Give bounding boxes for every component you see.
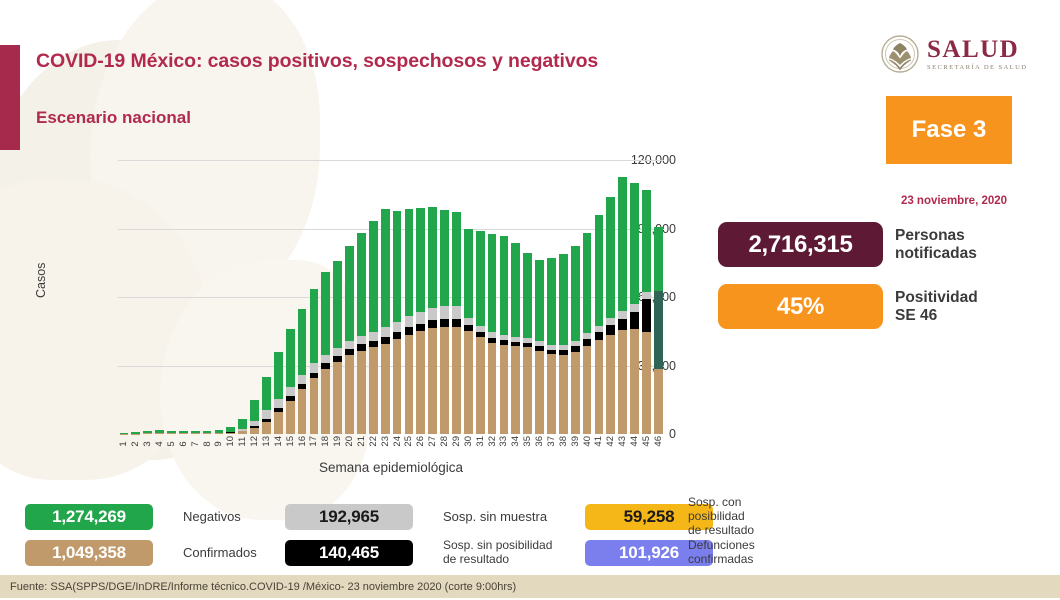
x-axis-tick: 29: [451, 436, 463, 447]
bar-segment: [464, 331, 473, 434]
bar-column: [605, 160, 617, 434]
bar-segment: [440, 210, 449, 306]
stacked-bar[interactable]: [618, 177, 627, 434]
stat-positividad-label-line2: SE 46: [895, 307, 978, 325]
bar-column: [439, 160, 451, 434]
x-axis-tick-label: 31: [475, 436, 486, 447]
x-axis-tick-label: 1: [118, 436, 129, 447]
bar-segment: [345, 355, 354, 434]
stacked-bar[interactable]: [310, 289, 319, 434]
bar-segment: [369, 347, 378, 434]
legend-label-line2: confirmadas: [688, 553, 800, 567]
bar-column: [557, 160, 569, 434]
bar-segment: [559, 355, 568, 434]
bar-column: [581, 160, 593, 434]
title-accent-bar: [0, 45, 20, 150]
bar-segment: [606, 325, 615, 335]
bar-segment: [583, 346, 592, 434]
x-axis-tick-label: 45: [641, 436, 652, 447]
bar-column: [177, 160, 189, 434]
stat-positividad-chip: 45%: [718, 284, 883, 329]
bar-segment: [286, 329, 295, 386]
bar-segment: [191, 433, 200, 434]
bar-column: [272, 160, 284, 434]
bar-column: [332, 160, 344, 434]
bar-segment: [393, 211, 402, 322]
stacked-bar[interactable]: [606, 197, 615, 434]
x-axis-tick-label: 28: [439, 436, 450, 447]
x-axis-tick: 19: [332, 436, 344, 447]
bar-column: [166, 160, 178, 434]
x-axis-tick: 25: [403, 436, 415, 447]
bar-column: [237, 160, 249, 434]
x-axis-tick-label: 9: [213, 436, 224, 447]
bar-column: [498, 160, 510, 434]
x-axis-tick-label: 25: [403, 436, 414, 447]
bar-segment: [642, 190, 651, 293]
bar-segment: [298, 389, 307, 434]
bar-segment: [274, 352, 283, 399]
x-axis-tick-label: 12: [249, 436, 260, 447]
x-axis-tick-label: 6: [178, 436, 189, 447]
bar-segment: [595, 340, 604, 434]
stacked-bar[interactable]: [452, 212, 461, 434]
bar-segment: [606, 318, 615, 325]
stacked-bar[interactable]: [357, 233, 366, 434]
stacked-bar[interactable]: [345, 246, 354, 434]
stacked-bar[interactable]: [321, 272, 330, 434]
x-axis-tick-label: 30: [463, 436, 474, 447]
x-axis-tick: 34: [510, 436, 522, 447]
x-axis-tick: 30: [462, 436, 474, 447]
bar-segment: [369, 341, 378, 348]
bar-segment: [606, 335, 615, 434]
bar-segment: [440, 319, 449, 327]
x-axis-tick: 39: [569, 436, 581, 447]
x-axis-tick: 38: [557, 436, 569, 447]
x-axis-tick-label: 23: [380, 436, 391, 447]
bar-segment: [357, 351, 366, 434]
bar-segment: [238, 431, 247, 434]
bar-column: [367, 160, 379, 434]
bar-column: [379, 160, 391, 434]
stacked-bar[interactable]: [630, 183, 639, 434]
x-axis-tick: 4: [154, 436, 166, 447]
x-axis-tick-label: 27: [427, 436, 438, 447]
x-axis-tick: 37: [546, 436, 558, 447]
x-axis-tick: 8: [201, 436, 213, 447]
bar-segment: [642, 299, 651, 332]
legend-label: Negativos: [175, 510, 285, 525]
stacked-bar[interactable]: [155, 430, 164, 434]
bar-segment: [488, 343, 497, 434]
bar-segment: [416, 208, 425, 312]
bar-segment: [452, 212, 461, 307]
bar-segment: [310, 363, 319, 372]
bar-segment: [333, 348, 342, 356]
x-axis-label: Semana epidemiológica: [118, 460, 664, 475]
x-axis-tick-label: 5: [166, 436, 177, 447]
legend-label: Sosp. con posibilidadde resultado: [680, 496, 800, 537]
stacked-bar[interactable]: [215, 430, 224, 434]
bar-column: [320, 160, 332, 434]
x-axis-tick-label: 38: [558, 436, 569, 447]
bar-segment: [333, 362, 342, 434]
page-subtitle: Escenario nacional: [36, 108, 191, 128]
stacked-bar[interactable]: [191, 431, 200, 434]
bar-segment: [416, 312, 425, 324]
bar-segment: [476, 337, 485, 434]
x-axis-tick: 22: [367, 436, 379, 447]
bar-segment: [416, 324, 425, 332]
x-axis-tick: 26: [415, 436, 427, 447]
stacked-bar[interactable]: [250, 400, 259, 434]
bar-segment: [583, 339, 592, 346]
bar-segment: [286, 387, 295, 397]
stat-personas-chip: 2,716,315: [718, 222, 883, 267]
x-axis-tick-label: 37: [546, 436, 557, 447]
stacked-bar[interactable]: [654, 227, 663, 434]
x-axis-tick: 35: [522, 436, 534, 447]
legend-label: Sosp. sin muestra: [435, 510, 585, 525]
x-axis-tick-label: 35: [522, 436, 533, 447]
stacked-bar[interactable]: [298, 309, 307, 434]
bar-segment: [428, 308, 437, 320]
bar-column: [118, 160, 130, 434]
bar-column: [344, 160, 356, 434]
bar-segment: [262, 377, 271, 410]
bar-column: [296, 160, 308, 434]
bar-segment: [298, 309, 307, 375]
x-axis-tick-label: 34: [510, 436, 521, 447]
x-axis-tick-label: 42: [605, 436, 616, 447]
legend-label-line1: Sosp. sin posibilidad: [443, 539, 585, 553]
bar-segment: [595, 215, 604, 326]
bar-column: [415, 160, 427, 434]
stacked-bar[interactable]: [226, 427, 235, 434]
stacked-bar[interactable]: [120, 433, 129, 434]
x-axis-tick: 40: [581, 436, 593, 447]
x-axis-tick-label: 4: [154, 436, 165, 447]
bar-segment: [321, 355, 330, 364]
x-axis-tick: 17: [308, 436, 320, 447]
legend-chip: 1,049,358: [25, 540, 153, 566]
bar-column: [154, 160, 166, 434]
chart-legend: 1,274,269Negativos192,965Sosp. sin muest…: [25, 502, 765, 568]
stat-personas-label-line1: Personas: [895, 227, 977, 245]
bar-segment: [488, 234, 497, 332]
x-axis-tick: 32: [486, 436, 498, 447]
x-axis-tick-label: 36: [534, 436, 545, 447]
stacked-bar[interactable]: [405, 209, 414, 434]
bar-column: [403, 160, 415, 434]
stacked-bar[interactable]: [559, 254, 568, 434]
stacked-bar[interactable]: [583, 233, 592, 434]
x-axis-tick-label: 10: [225, 436, 236, 447]
bar-segment: [405, 209, 414, 316]
stacked-bar[interactable]: [274, 352, 283, 434]
bar-column: [652, 160, 664, 434]
bar-segment: [571, 352, 580, 434]
stacked-bar[interactable]: [523, 253, 532, 434]
x-axis-tick: 11: [237, 436, 249, 447]
bar-segment: [630, 304, 639, 312]
stacked-bar[interactable]: [416, 208, 425, 434]
bar-segment: [523, 347, 532, 434]
bar-segment: [618, 177, 627, 312]
x-axis-tick-label: 29: [451, 436, 462, 447]
bar-segment: [428, 328, 437, 434]
bar-segment: [476, 231, 485, 326]
bar-segment: [393, 332, 402, 339]
footer-source: Fuente: SSA(SPPS/DGE/InDRE/Informe técni…: [0, 581, 516, 593]
bar-segment: [642, 332, 651, 434]
bar-segment: [262, 422, 271, 434]
stacked-bar[interactable]: [547, 258, 556, 434]
bar-segment: [369, 332, 378, 341]
bar-segment: [321, 272, 330, 354]
x-axis-tick: 36: [534, 436, 546, 447]
legend-label: Sosp. sin posibilidadde resultado: [435, 539, 585, 567]
stacked-bar[interactable]: [167, 431, 176, 434]
bar-segment: [618, 330, 627, 434]
x-axis-tick: 1: [118, 436, 130, 447]
x-axis-tick-label: 19: [332, 436, 343, 447]
bar-segment: [369, 221, 378, 332]
x-axis-tick-label: 17: [308, 436, 319, 447]
x-axis-tick: 24: [391, 436, 403, 447]
bar-segment: [559, 254, 568, 345]
x-axis-tick-label: 39: [570, 436, 581, 447]
legend-value: 1,274,269: [52, 507, 126, 527]
bar-segment: [500, 236, 509, 335]
stacked-bar[interactable]: [476, 231, 485, 434]
fase-badge-label: Fase 3: [912, 116, 987, 144]
bar-segment: [416, 331, 425, 434]
x-axis-tick: 41: [593, 436, 605, 447]
x-axis-tick: 33: [498, 436, 510, 447]
page-title: COVID-19 México: casos positivos, sospec…: [36, 50, 598, 73]
bar-segment: [535, 260, 544, 341]
x-axis-tick: 2: [130, 436, 142, 447]
bar-segment: [393, 339, 402, 434]
x-axis-tick: 10: [225, 436, 237, 447]
bar-column: [522, 160, 534, 434]
bar-segment: [618, 311, 627, 318]
fase-badge: Fase 3: [886, 96, 1012, 164]
stat-personas-value: 2,716,315: [748, 231, 852, 259]
legend-label-line2: de resultado: [688, 524, 800, 538]
stacked-bar[interactable]: [286, 329, 295, 434]
stacked-bar[interactable]: [428, 207, 437, 434]
bar-segment: [203, 433, 212, 434]
stacked-bar[interactable]: [464, 229, 473, 434]
bar-column: [462, 160, 474, 434]
bar-segment: [310, 289, 319, 363]
stacked-bar[interactable]: [262, 377, 271, 434]
x-axis-tick-label: 33: [498, 436, 509, 447]
bar-segment: [606, 197, 615, 318]
bar-column: [391, 160, 403, 434]
stat-personas-label: Personas notificadas: [895, 227, 977, 262]
bar-column: [249, 160, 261, 434]
x-axis-tick-label: 11: [237, 436, 248, 447]
x-axis-tick-label: 46: [653, 436, 664, 447]
bar-column: [201, 160, 213, 434]
x-axis-tick: 13: [261, 436, 273, 447]
legend-chip: 192,965: [285, 504, 413, 530]
bar-column: [189, 160, 201, 434]
bar-column: [534, 160, 546, 434]
x-axis-tick-label: 32: [487, 436, 498, 447]
x-axis-tick: 18: [320, 436, 332, 447]
bar-segment: [381, 337, 390, 344]
bar-column: [486, 160, 498, 434]
stacked-bar[interactable]: [511, 243, 520, 434]
bar-segment: [179, 433, 188, 434]
stacked-bar[interactable]: [595, 215, 604, 434]
x-axis-tick-label: 15: [285, 436, 296, 447]
stacked-bar[interactable]: [333, 261, 342, 434]
x-axis-ticks: 1234567891011121314151617181920212223242…: [118, 436, 664, 447]
bar-column: [593, 160, 605, 434]
stacked-bar[interactable]: [131, 432, 140, 434]
salud-logo: SALUD SECRETARÍA DE SALUD: [880, 34, 1027, 74]
bar-segment: [654, 369, 663, 434]
bar-segment: [274, 412, 283, 434]
bar-segment: [654, 227, 663, 292]
x-axis-tick-label: 14: [273, 436, 284, 447]
stat-positividad-value: 45%: [777, 293, 824, 321]
bar-segment: [511, 346, 520, 434]
bar-segment: [523, 253, 532, 337]
stacked-bar[interactable]: [393, 211, 402, 434]
stacked-bar[interactable]: [488, 234, 497, 434]
stat-positividad-label-line1: Positividad: [895, 289, 978, 307]
stat-positividad: 45% Positividad SE 46: [718, 284, 978, 329]
bar-segment: [143, 433, 152, 434]
bar-segment: [428, 207, 437, 307]
x-axis-tick-label: 41: [593, 436, 604, 447]
x-axis-tick: 45: [641, 436, 653, 447]
legend-value: 1,049,358: [52, 543, 126, 563]
legend-label: Defuncionesconfirmadas: [680, 539, 800, 567]
bar-segment: [630, 312, 639, 329]
bar-segment: [452, 306, 461, 318]
y-axis-label: Casos: [34, 263, 48, 298]
bar-segment: [381, 327, 390, 337]
x-axis-tick: 20: [344, 436, 356, 447]
bar-segment: [571, 246, 580, 341]
bar-segment: [321, 369, 330, 434]
bar-column: [474, 160, 486, 434]
bar-segment: [511, 243, 520, 337]
x-axis-tick-label: 3: [142, 436, 153, 447]
legend-label-line1: Sosp. con posibilidad: [688, 496, 800, 524]
bar-segment: [464, 229, 473, 318]
legend-value: 140,465: [319, 543, 379, 563]
stacked-bar[interactable]: [500, 236, 509, 434]
x-axis-tick: 5: [166, 436, 178, 447]
bar-segment-highlight: [654, 291, 663, 369]
x-axis-tick: 9: [213, 436, 225, 447]
stacked-bar[interactable]: [642, 190, 651, 434]
bar-column: [569, 160, 581, 434]
stat-personas-notificadas: 2,716,315 Personas notificadas: [718, 222, 977, 267]
stacked-bar-chart: Casos 030,00060,00090,000120,000 1234567…: [36, 160, 676, 480]
x-axis-tick: 16: [296, 436, 308, 447]
x-axis-tick: 31: [474, 436, 486, 447]
stat-positividad-label: Positividad SE 46: [895, 289, 978, 324]
bar-series: [118, 160, 664, 434]
bar-segment: [452, 319, 461, 327]
stacked-bar[interactable]: [179, 431, 188, 434]
x-axis-tick: 23: [379, 436, 391, 447]
x-axis-tick: 15: [284, 436, 296, 447]
legend-label-line2: de resultado: [443, 553, 585, 567]
bar-segment: [595, 332, 604, 340]
legend-chip: 140,465: [285, 540, 413, 566]
bar-segment: [215, 433, 224, 434]
bar-segment: [618, 319, 627, 330]
x-axis-tick-label: 26: [415, 436, 426, 447]
x-axis-tick-label: 24: [392, 436, 403, 447]
plot-area: [118, 160, 664, 434]
bar-segment: [238, 419, 247, 428]
x-axis-tick: 3: [142, 436, 154, 447]
bar-column: [261, 160, 273, 434]
x-axis-tick-label: 16: [297, 436, 308, 447]
legend-value: 59,258: [624, 507, 675, 527]
bar-column: [142, 160, 154, 434]
x-axis-tick-label: 8: [202, 436, 213, 447]
bar-segment: [547, 258, 556, 345]
bar-segment: [155, 433, 164, 434]
x-axis-tick-label: 18: [320, 436, 331, 447]
bar-segment: [262, 410, 271, 419]
bar-segment: [642, 292, 651, 299]
bar-segment: [452, 327, 461, 434]
bar-segment: [345, 341, 354, 349]
bar-segment: [333, 261, 342, 348]
bar-segment: [167, 433, 176, 434]
bar-segment: [310, 378, 319, 434]
stacked-bar[interactable]: [238, 419, 247, 434]
stacked-bar[interactable]: [535, 260, 544, 434]
bar-segment: [464, 318, 473, 325]
bar-segment: [357, 233, 366, 336]
x-axis-tick-label: 20: [344, 436, 355, 447]
logo-subtitle: SECRETARÍA DE SALUD: [927, 65, 1027, 72]
bar-column: [284, 160, 296, 434]
bar-segment: [440, 306, 449, 319]
stacked-bar[interactable]: [571, 246, 580, 434]
stacked-bar[interactable]: [143, 431, 152, 434]
bar-column: [617, 160, 629, 434]
bar-column: [225, 160, 237, 434]
bar-column: [427, 160, 439, 434]
bar-segment: [250, 400, 259, 421]
stacked-bar[interactable]: [203, 431, 212, 434]
bar-segment: [405, 316, 414, 327]
bar-segment: [500, 345, 509, 434]
stacked-bar[interactable]: [381, 209, 390, 434]
legend-value: 192,965: [319, 507, 379, 527]
stacked-bar[interactable]: [440, 210, 449, 434]
stacked-bar[interactable]: [369, 221, 378, 434]
bar-segment: [381, 344, 390, 434]
bar-segment: [381, 209, 390, 328]
